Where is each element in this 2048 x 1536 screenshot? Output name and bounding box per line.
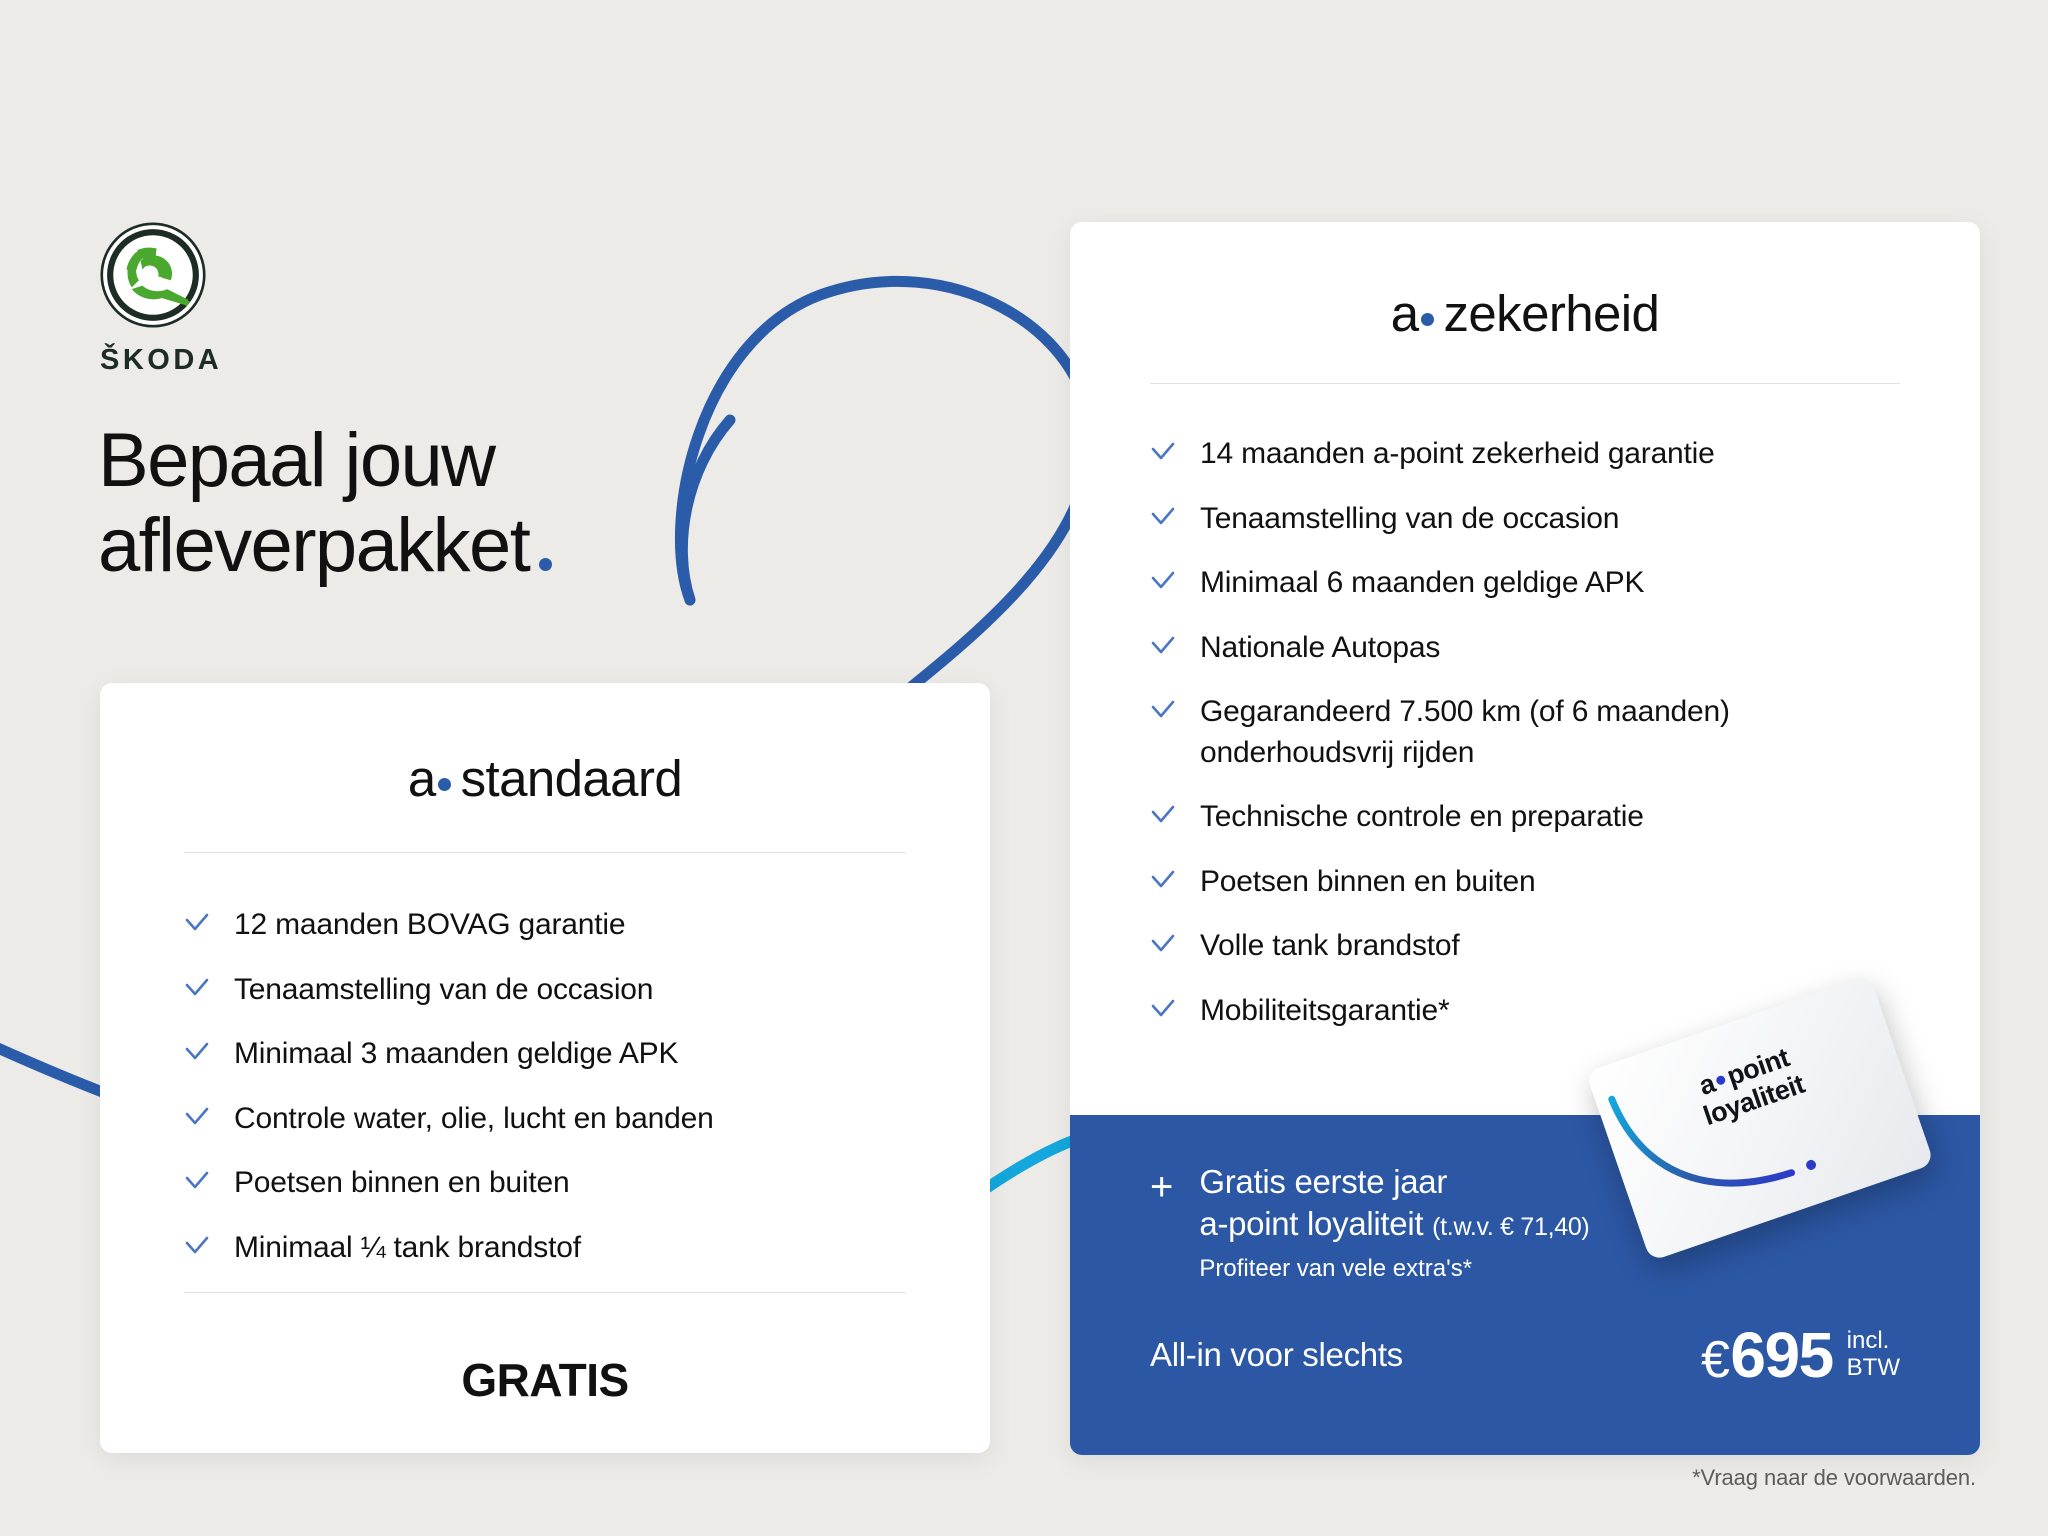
feature-item: Poetsen binnen en buiten [1150, 862, 1920, 903]
feature-item: Tenaamstelling van de occasion [1150, 499, 1920, 540]
headline-line-2-wrap: afleverpakket [98, 503, 552, 588]
divider [184, 1292, 906, 1293]
feature-item: Volle tank brandstof [1150, 926, 1920, 967]
feature-item: 14 maanden a-point zekerheid garantie [1150, 434, 1920, 475]
check-icon [1150, 634, 1176, 660]
standaard-feature-list: 12 maanden BOVAG garantieTenaamstelling … [100, 853, 990, 1268]
offer-line-2: a-point loyaliteit (t.w.v. € 71,40) [1199, 1205, 1589, 1243]
offer-value-note: (t.w.v. € 71,40) [1432, 1213, 1589, 1241]
feature-label: Tenaamstelling van de occasion [234, 970, 653, 1011]
price-incl-line-2: BTW [1847, 1355, 1900, 1382]
feature-label: Controle water, olie, lucht en banden [234, 1099, 714, 1140]
poster-canvas: ŠKODA Bepaal jouw afleverpakket astandaa… [0, 0, 2048, 1536]
check-icon [1150, 932, 1176, 958]
feature-item: Technische controle en preparatie [1150, 797, 1920, 838]
zekerheid-card-title: azekerheid [1070, 222, 1980, 343]
check-icon [1150, 803, 1176, 829]
check-icon [184, 1234, 210, 1260]
check-icon [1150, 505, 1176, 531]
standaard-price: GRATIS [100, 1353, 990, 1407]
feature-item: Minimaal 3 maanden geldige APK [184, 1034, 930, 1075]
skoda-wordmark: ŠKODA [100, 344, 222, 377]
check-icon [184, 1040, 210, 1066]
feature-item: 12 maanden BOVAG garantie [184, 905, 930, 946]
brand-dot-icon [438, 778, 451, 791]
price-label: All-in voor slechts [1150, 1336, 1403, 1374]
plus-icon: + [1150, 1167, 1173, 1207]
feature-label: Technische controle en preparatie [1200, 797, 1644, 838]
skoda-logo-icon [100, 222, 206, 328]
check-icon [1150, 997, 1176, 1023]
check-icon [1150, 569, 1176, 595]
check-icon [1150, 698, 1176, 724]
feature-item: Nationale Autopas [1150, 628, 1920, 669]
check-icon [184, 1169, 210, 1195]
zekerheid-title-prefix: a [1391, 285, 1419, 342]
check-icon [184, 1105, 210, 1131]
offer-line-3: Profiteer van vele extra's* [1199, 1255, 1589, 1283]
standaard-card-title: astandaard [100, 683, 990, 808]
brand-block: ŠKODA [100, 222, 222, 377]
headline-line-1: Bepaal jouw [98, 418, 552, 503]
zekerheid-title-text: zekerheid [1444, 285, 1660, 342]
footnote-disclaimer: *Vraag naar de voorwaarden. [1692, 1465, 1976, 1491]
price-incl-line-1: incl. [1847, 1328, 1900, 1355]
feature-label: Volle tank brandstof [1200, 926, 1460, 967]
zekerheid-feature-list: 14 maanden a-point zekerheid garantieTen… [1070, 384, 1980, 1031]
price-tax-note: incl. BTW [1847, 1328, 1900, 1382]
standaard-title-text: standaard [461, 750, 682, 807]
feature-label: Minimaal 3 maanden geldige APK [234, 1034, 678, 1075]
offer-line-1: Gratis eerste jaar [1199, 1163, 1589, 1201]
zekerheid-price-row: All-in voor slechts €695 incl. BTW [1150, 1323, 1900, 1387]
feature-label: Nationale Autopas [1200, 628, 1440, 669]
page-title: Bepaal jouw afleverpakket [98, 418, 552, 588]
standaard-title-prefix: a [408, 750, 436, 807]
zekerheid-package-card: azekerheid 14 maanden a-point zekerheid … [1070, 222, 1980, 1455]
feature-item: Poetsen binnen en buiten [184, 1163, 930, 1204]
check-icon [184, 911, 210, 937]
feature-label: Poetsen binnen en buiten [234, 1163, 569, 1204]
feature-label: 14 maanden a-point zekerheid garantie [1200, 434, 1715, 475]
feature-item: Tenaamstelling van de occasion [184, 970, 930, 1011]
feature-label: Mobiliteitsgarantie* [1200, 991, 1449, 1032]
price-number: 695 [1730, 1319, 1832, 1391]
brand-dot-icon [1421, 313, 1434, 326]
feature-label: Minimaal ¼ tank brandstof [234, 1228, 581, 1269]
feature-item: Controle water, olie, lucht en banden [184, 1099, 930, 1140]
currency-symbol: € [1701, 1331, 1728, 1389]
check-icon [184, 976, 210, 1002]
check-icon [1150, 868, 1176, 894]
feature-item: Gegarandeerd 7.500 km (of 6 maanden) ond… [1150, 692, 1920, 773]
offer-loyalty-name: a-point loyaliteit [1199, 1205, 1423, 1242]
headline-blue-dot-icon [539, 558, 552, 571]
price-amount: €695 [1701, 1323, 1833, 1387]
headline-line-2: afleverpakket [98, 503, 529, 588]
standaard-package-card: astandaard 12 maanden BOVAG garantieTena… [100, 683, 990, 1453]
feature-label: Gegarandeerd 7.500 km (of 6 maanden) ond… [1200, 692, 1920, 773]
feature-label: Tenaamstelling van de occasion [1200, 499, 1619, 540]
feature-item: Minimaal 6 maanden geldige APK [1150, 563, 1920, 604]
check-icon [1150, 440, 1176, 466]
feature-label: Minimaal 6 maanden geldige APK [1200, 563, 1644, 604]
feature-item: Minimaal ¼ tank brandstof [184, 1228, 930, 1269]
feature-label: Poetsen binnen en buiten [1200, 862, 1535, 903]
feature-label: 12 maanden BOVAG garantie [234, 905, 625, 946]
